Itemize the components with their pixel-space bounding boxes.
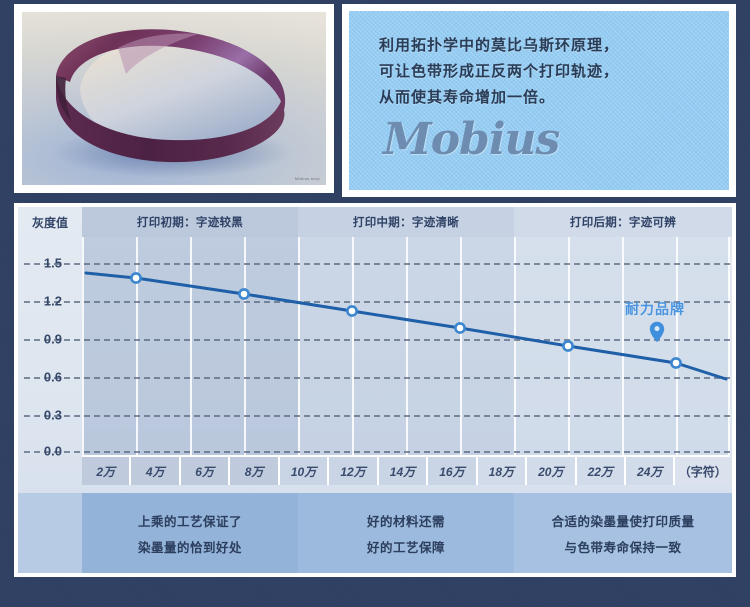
- feature-strip-spacer: [18, 493, 82, 573]
- data-point-markers: [82, 237, 730, 455]
- hero-line-2: 可让色带形成正反两个打印轨迹，: [379, 59, 729, 85]
- phase-label-late: 打印后期：字迹可辨: [514, 207, 732, 237]
- x-tick-1: 4万: [131, 457, 180, 485]
- x-tick-10: 22万: [577, 457, 626, 485]
- mobius-strip-illustration: [22, 12, 326, 185]
- brand-annotation-label: 耐力品牌: [625, 299, 685, 319]
- feature-2-line-1: 好的材料还需: [367, 511, 445, 530]
- y-tick-label-1-2: 1.2: [20, 294, 62, 309]
- feature-block-craft: 上乘的工艺保证了 染墨量的恰到好处: [82, 493, 298, 573]
- x-tick-2: 6万: [181, 457, 230, 485]
- hero-section: Möbius strip 利用拓扑学中的莫比乌斯环原理， 可让色带形成正反两个打…: [14, 4, 736, 197]
- chart-plot-area: 1.5 1.2 0.9 0.6 0.3 0.0: [82, 237, 730, 455]
- feature-3-line-1: 合适的染墨量使打印质量: [551, 511, 694, 530]
- phase-label-early: 打印初期：字迹较黑: [82, 207, 298, 237]
- x-tick-11: 24万: [626, 457, 675, 485]
- y-tick-label-1-5: 1.5: [20, 256, 62, 271]
- x-tick-0: 2万: [82, 457, 131, 485]
- phase-label-middle: 打印中期：字迹清晰: [298, 207, 514, 237]
- data-point-16wan: [455, 323, 464, 332]
- mobius-strip-photo: Möbius strip: [22, 12, 326, 185]
- mobius-photo-frame: Möbius strip: [14, 4, 334, 193]
- x-axis-unit-label: （字符）: [675, 457, 730, 485]
- feature-1-line-1: 上乘的工艺保证了: [138, 511, 242, 530]
- feature-1-line-2: 染墨量的恰到好处: [138, 537, 242, 556]
- y-tick-label-0-6: 0.6: [20, 370, 62, 385]
- hero-line-3: 从而使其寿命增加一倍。: [379, 85, 729, 111]
- data-point-20wan: [563, 341, 572, 350]
- y-tick-label-0-0: 0.0: [20, 444, 62, 459]
- data-point-24wan: [671, 358, 680, 367]
- data-point-12wan: [347, 306, 356, 315]
- mobius-text-panel: 利用拓扑学中的莫比乌斯环原理， 可让色带形成正反两个打印轨迹， 从而使其寿命增加…: [342, 4, 736, 197]
- data-point-4wan: [131, 273, 140, 282]
- hero-line-1: 利用拓扑学中的莫比乌斯环原理，: [379, 33, 729, 59]
- x-tick-8: 18万: [478, 457, 527, 485]
- y-tick-label-0-3: 0.3: [20, 408, 62, 423]
- x-tick-5: 12万: [329, 457, 378, 485]
- x-tick-6: 14万: [379, 457, 428, 485]
- data-point-8wan: [239, 289, 248, 298]
- x-tick-7: 16万: [428, 457, 477, 485]
- chart-phase-header: 灰度值 打印初期：字迹较黑 打印中期：字迹清晰 打印后期：字迹可辨: [18, 207, 732, 237]
- x-tick-3: 8万: [230, 457, 279, 485]
- chart-x-axis: 2万 4万 6万 8万 10万 12万 14万 16万 18万 20万 22万 …: [82, 455, 730, 485]
- photo-credit: Möbius strip: [295, 176, 320, 181]
- feature-3-line-2: 与色带寿命保持一致: [564, 537, 681, 556]
- chart-card: 灰度值 打印初期：字迹较黑 打印中期：字迹清晰 打印后期：字迹可辨: [14, 203, 736, 577]
- feature-block-ink: 合适的染墨量使打印质量 与色带寿命保持一致: [514, 493, 732, 573]
- y-tick-label-0-9: 0.9: [20, 332, 62, 347]
- map-pin-icon: [649, 321, 665, 343]
- mobius-text-panel-inner: 利用拓扑学中的莫比乌斯环原理， 可让色带形成正反两个打印轨迹， 从而使其寿命增加…: [349, 11, 729, 190]
- x-tick-4: 10万: [280, 457, 329, 485]
- y-axis-title: 灰度值: [18, 207, 82, 237]
- feature-strip: 上乘的工艺保证了 染墨量的恰到好处 好的材料还需 好的工艺保障 合适的染墨量使打…: [18, 493, 732, 573]
- x-tick-9: 20万: [527, 457, 576, 485]
- chart-inner: 灰度值 打印初期：字迹较黑 打印中期：字迹清晰 打印后期：字迹可辨: [18, 207, 732, 573]
- feature-2-line-2: 好的工艺保障: [367, 537, 445, 556]
- feature-block-material: 好的材料还需 好的工艺保障: [298, 493, 514, 573]
- mobius-wordmark: Mobius: [383, 117, 729, 163]
